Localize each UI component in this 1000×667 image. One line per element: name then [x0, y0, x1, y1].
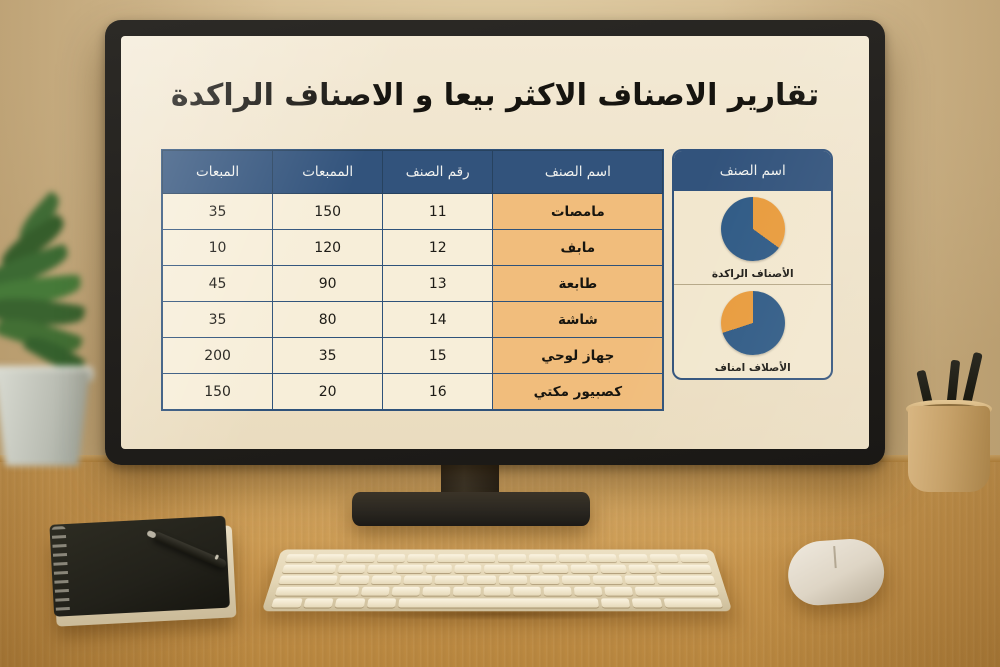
keyboard-key[interactable]: [574, 587, 603, 596]
pie-chart-label: الأصناف الراكدة: [712, 268, 794, 280]
table-row[interactable]: مابف 12 120 10: [163, 230, 663, 266]
cell-stock: 35: [163, 302, 273, 338]
cell-item-name: مابف: [493, 230, 663, 266]
keyboard-key[interactable]: [679, 554, 709, 562]
keyboard-key[interactable]: [649, 554, 678, 562]
mouse-scroll-divider: [833, 546, 836, 568]
keyboard-key[interactable]: [663, 598, 722, 607]
page-title: تقارير الاصناف الاكثر بيعا و الاصناف الر…: [121, 78, 869, 113]
keyboard-key[interactable]: [529, 554, 557, 562]
keyboard-key[interactable]: [635, 587, 719, 596]
cell-item-code: 14: [383, 302, 493, 338]
pie-chart-stagnant-items[interactable]: الأصناف الراكدة: [674, 191, 831, 284]
keyboard-key[interactable]: [346, 554, 375, 562]
keyboard-row: [285, 554, 709, 562]
cell-item-code: 15: [383, 338, 493, 374]
keyboard-key[interactable]: [339, 576, 369, 585]
keyboard-key[interactable]: [435, 576, 464, 585]
presentation-slide: تقارير الاصناف الاكثر بيعا و الاصناف الر…: [121, 36, 869, 449]
keyboard-key[interactable]: [335, 598, 365, 607]
keyboard-key[interactable]: [530, 576, 559, 585]
potted-plant: [0, 180, 120, 470]
cell-sold: 80: [273, 302, 383, 338]
table-row[interactable]: جهاز لوحي 15 35 200: [163, 338, 663, 374]
table-row[interactable]: طابعة 13 90 45: [163, 266, 663, 302]
keyboard-key[interactable]: [455, 565, 481, 573]
notebook-cover: [49, 516, 230, 617]
keyboard-key[interactable]: [337, 565, 365, 573]
report-table-wrapper: اسم الصنف رقم الصنف الممبعات المبعات مام…: [161, 149, 664, 411]
cell-item-code: 11: [383, 194, 493, 230]
keyboard-row: [275, 587, 719, 596]
keyboard-key[interactable]: [371, 576, 401, 585]
keyboard-row: [278, 576, 715, 585]
keyboard-key[interactable]: [624, 576, 654, 585]
keyboard-key[interactable]: [513, 565, 539, 573]
keyboard-key[interactable]: [437, 554, 465, 562]
keyboard-key[interactable]: [656, 576, 716, 585]
keyboard-key[interactable]: [396, 565, 423, 573]
keyboard-key[interactable]: [629, 565, 657, 573]
keyboard-key[interactable]: [632, 598, 662, 607]
report-table: اسم الصنف رقم الصنف الممبعات المبعات مام…: [162, 150, 663, 410]
cell-stock: 35: [163, 194, 273, 230]
keyboard-key[interactable]: [407, 554, 435, 562]
table-header-row: اسم الصنف رقم الصنف الممبعات المبعات: [163, 151, 663, 194]
keyboard-key[interactable]: [589, 554, 618, 562]
keyboard-key[interactable]: [601, 598, 631, 607]
keyboard-key[interactable]: [468, 554, 496, 562]
keyboard-key[interactable]: [422, 587, 450, 596]
pen-cup[interactable]: [908, 382, 990, 492]
keyboard-key[interactable]: [366, 598, 396, 607]
monitor-base: [352, 492, 590, 526]
keyboard-key[interactable]: [278, 576, 338, 585]
keyboard-key[interactable]: [619, 554, 648, 562]
keyboard-key[interactable]: [377, 554, 406, 562]
keyboard-key[interactable]: [498, 554, 526, 562]
keyboard-key[interactable]: [367, 565, 395, 573]
report-board: اسم الصنف رقم الصنف الممبعات المبعات مام…: [161, 149, 833, 417]
cell-item-code: 16: [383, 374, 493, 410]
keyboard-key[interactable]: [285, 554, 315, 562]
keyboard-key[interactable]: [403, 576, 433, 585]
keyboard-key[interactable]: [275, 587, 359, 596]
cell-item-name: شاشة: [493, 302, 663, 338]
pie-chart-label: الأصلاف امناف: [715, 362, 791, 374]
cell-item-name: جهاز لوحي: [493, 338, 663, 374]
keyboard-key[interactable]: [600, 565, 628, 573]
cell-item-name: طابعة: [493, 266, 663, 302]
notebook[interactable]: [49, 515, 238, 628]
cell-sold: 35: [273, 338, 383, 374]
cell-item-name: مامصات: [493, 194, 663, 230]
cell-item-code: 12: [383, 230, 493, 266]
keyboard-key[interactable]: [514, 587, 542, 596]
keyboard-key[interactable]: [658, 565, 713, 573]
cell-sold: 150: [273, 194, 383, 230]
keyboard-row: [271, 598, 723, 607]
desk-scene: تقارير الاصناف الاكثر بيعا و الاصناف الر…: [0, 0, 1000, 667]
keyboard-key[interactable]: [559, 554, 587, 562]
keyboard-key[interactable]: [499, 576, 528, 585]
cell-sold: 90: [273, 266, 383, 302]
table-row[interactable]: كصبيور مكتي 16 20 150: [163, 374, 663, 410]
table-header: اسم الصنف رقم الصنف الممبعات المبعات: [163, 151, 663, 194]
column-header-sold[interactable]: الممبعات: [273, 151, 383, 194]
charts-panel-header[interactable]: اسم الصنف: [674, 151, 831, 191]
keyboard-key[interactable]: [571, 565, 598, 573]
keyboard-key[interactable]: [271, 598, 302, 607]
keyboard-key[interactable]: [282, 565, 337, 573]
keyboard-key[interactable]: [467, 576, 496, 585]
charts-panel: اسم الصنف الأصناف الراكدة الأصلاف امناف: [672, 149, 833, 380]
monitor-screen[interactable]: تقارير الاصناف الاكثر بيعا و الاصناف الر…: [121, 36, 869, 449]
cell-item-code: 13: [383, 266, 493, 302]
keyboard-key[interactable]: [484, 565, 510, 573]
table-body: مامصات 11 150 35 مابف 12 120 10: [163, 194, 663, 410]
cell-sold: 120: [273, 230, 383, 266]
pie-chart-graphic: [721, 197, 785, 261]
column-header-stock[interactable]: المبعات: [163, 151, 273, 194]
pie-chart-items[interactable]: الأصلاف امناف: [674, 284, 831, 378]
table-row[interactable]: شاشة 14 80 35: [163, 302, 663, 338]
keyboard-key[interactable]: [542, 565, 569, 573]
keyboard-row: [282, 565, 712, 573]
keyboard-key[interactable]: [391, 587, 420, 596]
keyboard-key[interactable]: [593, 576, 623, 585]
cell-stock: 45: [163, 266, 273, 302]
keyboard-key[interactable]: [303, 598, 334, 607]
cell-stock: 200: [163, 338, 273, 374]
mouse[interactable]: [786, 537, 886, 608]
keyboard-key[interactable]: [361, 587, 390, 596]
keyboard-key[interactable]: [561, 576, 591, 585]
pie-chart-graphic: [721, 291, 785, 355]
keyboard-key[interactable]: [316, 554, 345, 562]
keyboard-spacebar[interactable]: [398, 598, 599, 607]
keyboard-key[interactable]: [544, 587, 572, 596]
cell-stock: 150: [163, 374, 273, 410]
keyboard[interactable]: [262, 549, 733, 611]
column-header-item-name[interactable]: اسم الصنف: [493, 151, 663, 194]
column-header-item-code[interactable]: رقم الصنف: [383, 151, 493, 194]
keyboard-key[interactable]: [425, 565, 452, 573]
cell-item-name: كصبيور مكتي: [493, 374, 663, 410]
cell-sold: 20: [273, 374, 383, 410]
pen-clip: [214, 554, 219, 560]
table-row[interactable]: مامصات 11 150 35: [163, 194, 663, 230]
pen-cup-body: [908, 406, 990, 492]
plant-pot: [0, 370, 90, 466]
keyboard-key[interactable]: [453, 587, 481, 596]
monitor: تقارير الاصناف الاكثر بيعا و الاصناف الر…: [105, 20, 885, 465]
cell-stock: 10: [163, 230, 273, 266]
keyboard-key[interactable]: [483, 587, 511, 596]
keyboard-key[interactable]: [604, 587, 633, 596]
notebook-spiral-binding: [52, 526, 71, 615]
